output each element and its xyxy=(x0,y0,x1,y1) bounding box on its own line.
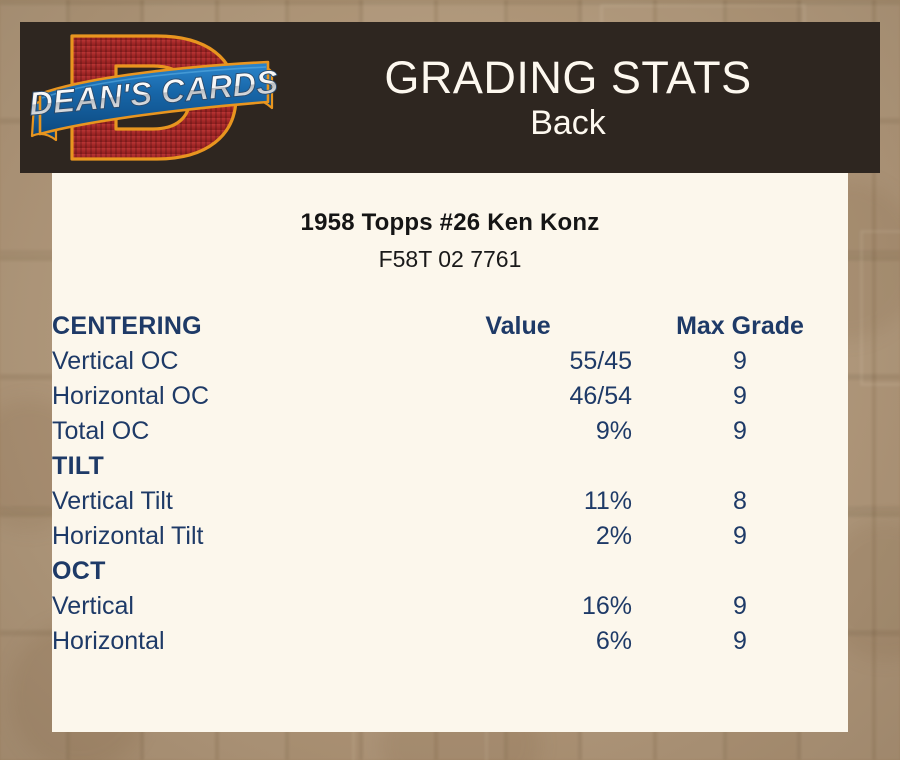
content-panel: 1958 Topps #26 Ken Konz F58T 02 7761 CEN… xyxy=(52,173,848,732)
grading-stats-page: DEAN'S CARDS GRADING STATS Back 1958 Top… xyxy=(0,0,900,760)
table-row: Total OC 9% 9 xyxy=(52,414,848,449)
row-label: Vertical Tilt xyxy=(52,484,412,519)
page-title: GRADING STATS xyxy=(290,55,846,100)
background-card-outline xyxy=(860,230,900,386)
card-title: 1958 Topps #26 Ken Konz xyxy=(52,173,848,237)
card-serial-number: F58T 02 7761 xyxy=(52,237,848,273)
table-row: Horizontal Tilt 2% 9 xyxy=(52,519,848,554)
page-header: DEAN'S CARDS GRADING STATS Back xyxy=(20,22,880,173)
table-row: Vertical OC 55/45 9 xyxy=(52,344,848,379)
row-max-grade: 9 xyxy=(632,624,848,659)
row-label: Horizontal xyxy=(52,624,412,659)
row-value: 11% xyxy=(412,484,632,519)
row-max-grade: 9 xyxy=(632,379,848,414)
grading-stats-table: CENTERING Value Max Grade Vertical OC 55… xyxy=(52,309,848,659)
row-value: 6% xyxy=(412,624,632,659)
table-header: CENTERING Value Max Grade xyxy=(52,309,848,344)
table-row: Horizontal OC 46/54 9 xyxy=(52,379,848,414)
row-value: 16% xyxy=(412,589,632,624)
row-max-grade: 9 xyxy=(632,344,848,379)
row-label: Horizontal OC xyxy=(52,379,412,414)
row-label: Vertical xyxy=(52,589,412,624)
section-header-row: TILT xyxy=(52,449,848,484)
table-row: Horizontal 6% 9 xyxy=(52,624,848,659)
column-header-value: Value xyxy=(412,309,632,344)
logo-ribbon-banner: DEAN'S CARDS xyxy=(27,62,279,134)
page-subtitle: Back xyxy=(290,106,846,140)
column-header-max-grade: Max Grade xyxy=(632,309,848,344)
row-max-grade: 9 xyxy=(632,589,848,624)
table-row: Vertical 16% 9 xyxy=(52,589,848,624)
row-max-grade: 9 xyxy=(632,414,848,449)
row-label: Horizontal Tilt xyxy=(52,519,412,554)
row-label: Vertical OC xyxy=(52,344,412,379)
row-value: 46/54 xyxy=(412,379,632,414)
header-title-group: GRADING STATS Back xyxy=(290,55,880,140)
row-value: 55/45 xyxy=(412,344,632,379)
row-max-grade: 8 xyxy=(632,484,848,519)
column-header-centering: CENTERING xyxy=(52,309,412,344)
table-header-row: CENTERING Value Max Grade xyxy=(52,309,848,344)
section-header-oct: OCT xyxy=(52,554,412,589)
section-header-tilt: TILT xyxy=(52,449,412,484)
row-label: Total OC xyxy=(52,414,412,449)
section-header-row: OCT xyxy=(52,554,848,589)
row-value: 2% xyxy=(412,519,632,554)
table-body: Vertical OC 55/45 9 Horizontal OC 46/54 … xyxy=(52,344,848,659)
row-max-grade: 9 xyxy=(632,519,848,554)
deans-cards-logo[interactable]: DEAN'S CARDS xyxy=(20,22,290,173)
table-row: Vertical Tilt 11% 8 xyxy=(52,484,848,519)
row-value: 9% xyxy=(412,414,632,449)
